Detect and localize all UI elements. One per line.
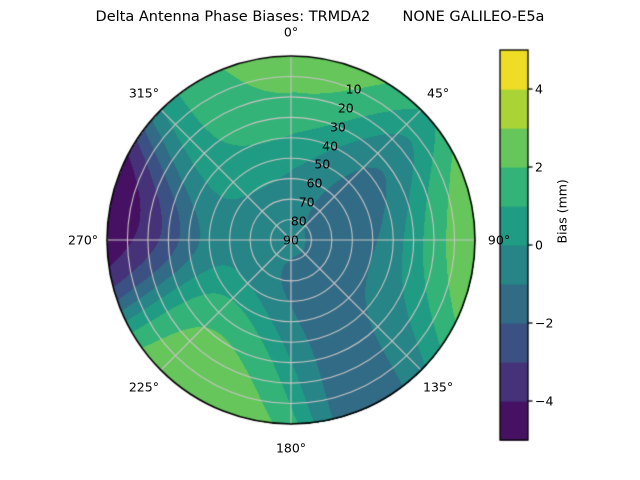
azimuth-tick-45: 45°: [427, 85, 449, 100]
azimuth-tick-270: 270°: [68, 233, 98, 248]
figure-canvas: Delta Antenna Phase Biases: TRMDA2 NONE …: [0, 0, 640, 480]
azimuth-tick-315: 315°: [129, 85, 159, 100]
azimuth-tick-180: 180°: [276, 441, 306, 456]
elevation-tick-60: 60: [307, 176, 323, 191]
azimuth-tick-135: 135°: [423, 380, 453, 395]
colorbar-tick-2: 2: [535, 160, 543, 175]
azimuth-tick-90: 90°: [488, 233, 510, 248]
elevation-tick-30: 30: [330, 119, 346, 134]
elevation-tick-10: 10: [346, 81, 362, 96]
elevation-tick-80: 80: [291, 214, 307, 229]
elevation-tick-70: 70: [299, 195, 315, 210]
elevation-tick-40: 40: [322, 138, 338, 153]
colorbar-tick-4: 4: [535, 82, 543, 97]
elevation-tick-20: 20: [338, 100, 354, 115]
elevation-tick-90: 90: [283, 233, 299, 248]
azimuth-tick-225: 225°: [129, 380, 159, 395]
elevation-tick-50: 50: [314, 157, 330, 172]
colorbar-tick-0: 0: [535, 238, 543, 253]
azimuth-tick-0: 0°: [284, 25, 298, 40]
colorbar-tick--2: −2: [535, 316, 553, 331]
colorbar-tick--4: −4: [535, 394, 553, 409]
chart-title: Delta Antenna Phase Biases: TRMDA2 NONE …: [0, 8, 640, 26]
